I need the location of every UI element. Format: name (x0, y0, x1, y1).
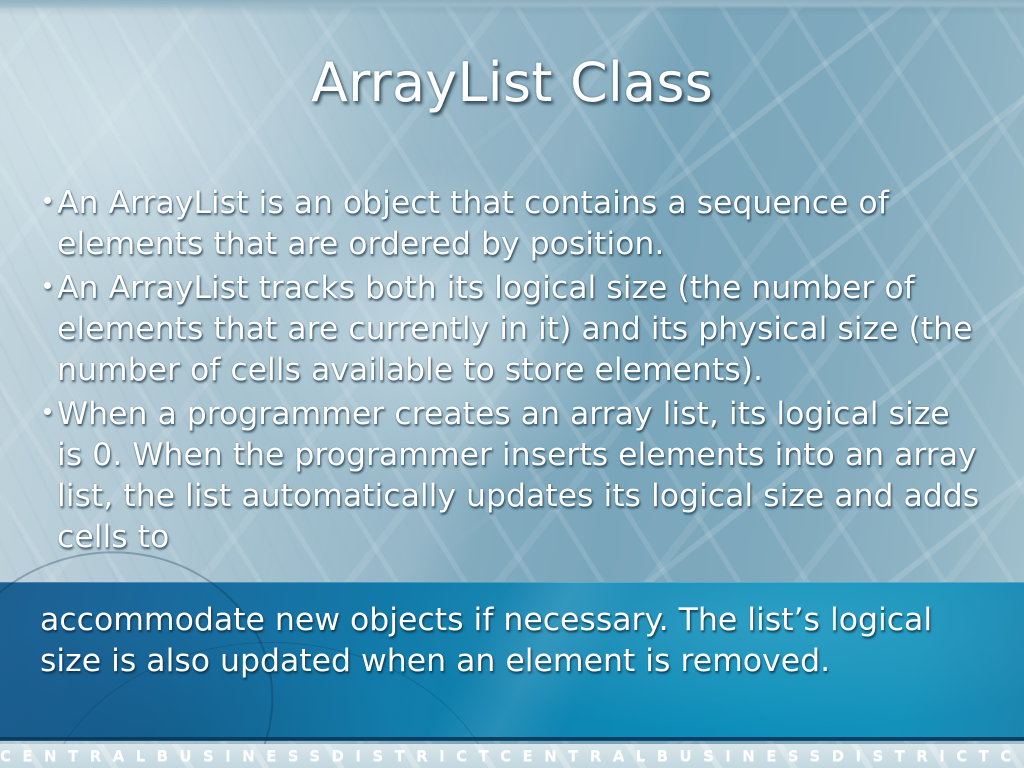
slide-title: ArrayList Class (0, 52, 1024, 114)
overflow-text: accommodate new objects if necessary. Th… (40, 600, 984, 682)
band-bottom-rule (0, 737, 1024, 741)
bullet-item: An ArrayList tracks both its logical siz… (40, 268, 984, 391)
bullet-item: An ArrayList is an object that contains … (40, 183, 984, 265)
slide-footer: CENTRALBUSINESSDISTRICTCENTRALBUSINESSDI… (0, 744, 1024, 768)
bullet-text: An ArrayList tracks both its logical siz… (57, 270, 972, 388)
bullet-dot-icon (44, 282, 51, 289)
top-edge-strip (0, 0, 1024, 9)
bullet-text: When a programmer creates an array list,… (57, 396, 979, 555)
footer-watermark-text: CENTRALBUSINESSDISTRICTCENTRALBUSINESSDI… (0, 747, 1024, 765)
bullet-dot-icon (44, 408, 51, 415)
bullet-dot-icon (44, 197, 51, 204)
bullet-item: When a programmer creates an array list,… (40, 394, 984, 558)
slide-body: An ArrayList is an object that contains … (40, 183, 984, 561)
slide: ArrayList Class An ArrayList is an objec… (0, 0, 1024, 768)
bullet-text: An ArrayList is an object that contains … (57, 185, 889, 262)
